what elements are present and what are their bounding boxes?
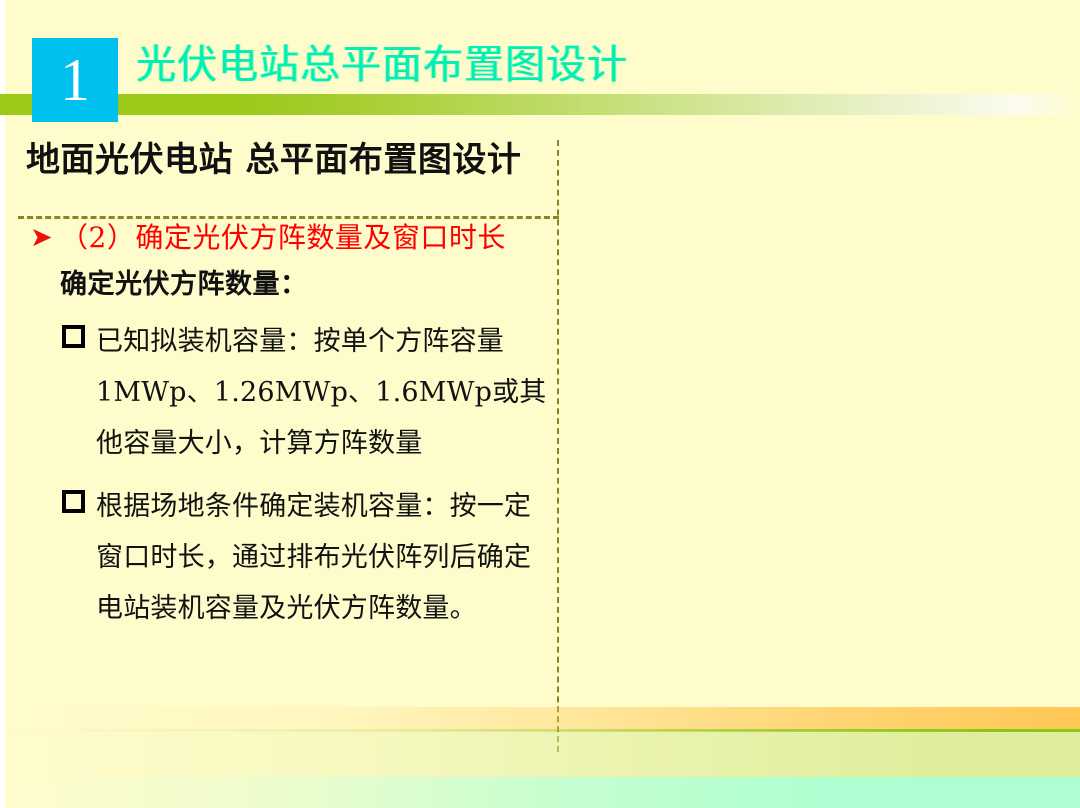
section-number-text: 1 xyxy=(60,50,90,110)
footer-band-green-line xyxy=(0,729,1080,732)
footer-band-mint xyxy=(0,777,1080,808)
slide: 1 光伏电站总平面布置图设计 地面光伏电站 总平面布置图设计 ➤ （2）确定光伏… xyxy=(0,0,1080,808)
footer-band-lime xyxy=(0,732,1080,777)
arrow-right-triangle-icon: ➤ xyxy=(30,218,60,258)
sub-heading: 确定光伏方阵数量： xyxy=(18,266,558,304)
page-title: 光伏电站总平面布置图设计 xyxy=(136,39,628,91)
header-green-rule xyxy=(0,94,1080,115)
list-item: 根据场地条件确定装机容量：按一定窗口时长，通过排布光伏阵列后确定电站装机容量及光… xyxy=(18,481,558,634)
hollow-square-bullet-icon xyxy=(62,316,96,348)
footer-band-orange xyxy=(0,707,1080,731)
list-item: 已知拟装机容量：按单个方阵容量1MWp、1.26MWp、1.6MWp或其他容量大… xyxy=(18,316,558,469)
list-item-text: 根据场地条件确定装机容量：按一定窗口时长，通过排布光伏阵列后确定电站装机容量及光… xyxy=(96,481,548,634)
arrow-bullet-row: ➤ （2）确定光伏方阵数量及窗口时长 xyxy=(18,218,558,258)
arrow-bullet-label: （2）确定光伏方阵数量及窗口时长 xyxy=(60,218,506,258)
hollow-square-bullet-icon xyxy=(62,481,96,513)
list-item-text: 已知拟装机容量：按单个方阵容量1MWp、1.26MWp、1.6MWp或其他容量大… xyxy=(96,316,548,469)
content-column: 地面光伏电站 总平面布置图设计 ➤ （2）确定光伏方阵数量及窗口时长 确定光伏方… xyxy=(18,138,558,634)
section-number-badge: 1 xyxy=(32,38,118,122)
section-heading: 地面光伏电站 总平面布置图设计 xyxy=(18,138,558,182)
